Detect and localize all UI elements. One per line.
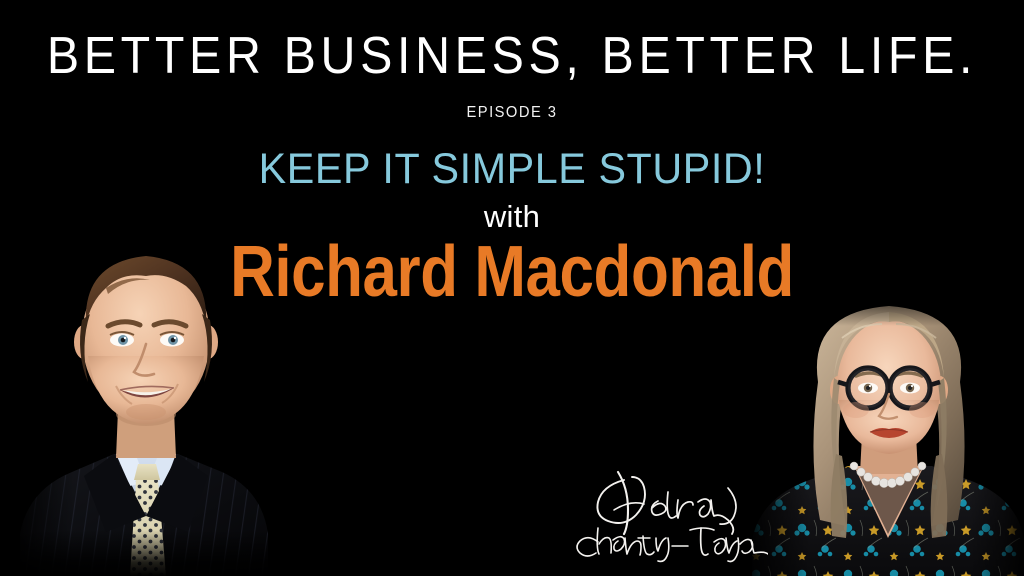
episode-title: KEEP IT SIMPLE STUPID! — [20, 145, 1003, 193]
guest-name: Richard Macdonald — [72, 234, 953, 310]
episode-number-label: EPISODE 3 — [41, 103, 983, 123]
podcast-cover-canvas: BETTER BUSINESS, BETTER LIFE. EPISODE 3 … — [0, 0, 1024, 576]
with-label: with — [0, 199, 1024, 235]
show-title: BETTER BUSINESS, BETTER LIFE. — [36, 28, 988, 84]
signature-icon — [568, 466, 768, 570]
host-portrait — [746, 286, 1024, 576]
